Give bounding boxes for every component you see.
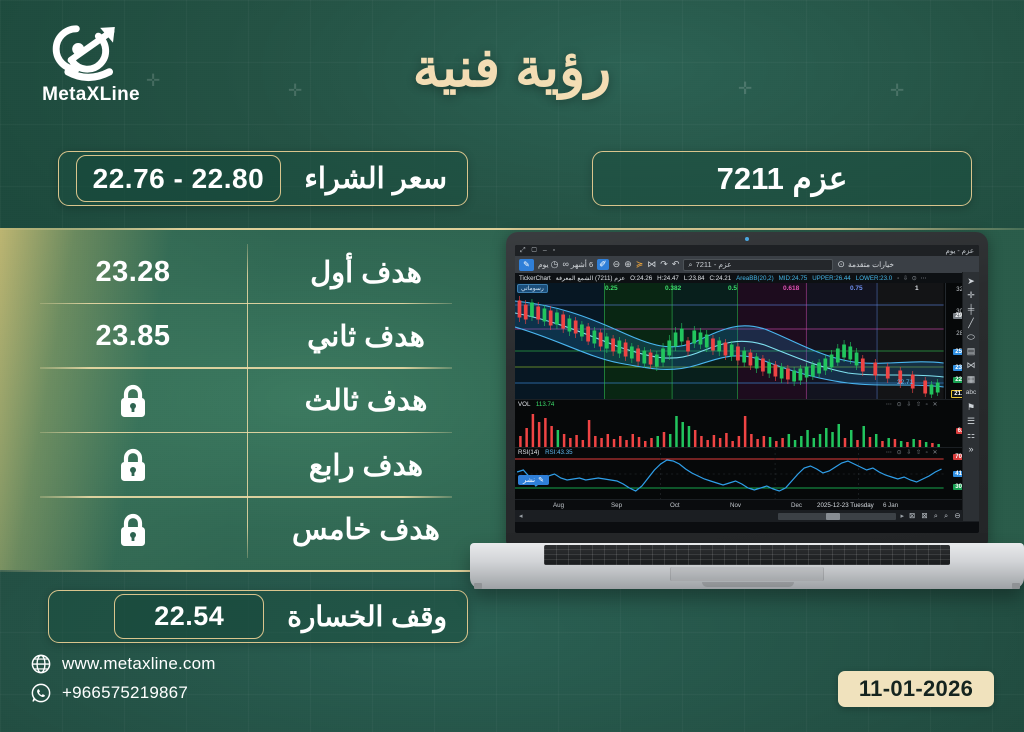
fib-label-1000: 1 (915, 285, 919, 292)
chart-toolbar: ✎ ◷ يوم 6 أشهر ∞ ✐ ⊖ ⊕ ≼ ⋈ ↷ ↶ (515, 256, 979, 273)
range-6m[interactable]: 6 أشهر ∞ (562, 260, 593, 269)
chart-infobar: TickerChart عزم (7211) الشمع المعرفة O:2… (515, 273, 979, 283)
lock-icon (117, 447, 149, 483)
laptop-foot-right (1012, 583, 1020, 589)
search-icon: ⌕ (688, 260, 692, 270)
price-chart-panel[interactable]: رسوماتي 0.25 0.382 0.5 0.618 0.75 1 32.0… (515, 283, 979, 399)
website-row[interactable]: www.metaxline.com (30, 653, 216, 675)
page-title: رؤية فنية (0, 36, 1024, 99)
laptop-mockup: ⤢ ▢ – ▫ عزم - يوم ✎ ◷ يوم 6 أشهر ∞ ✐ ⊖ (470, 232, 1024, 600)
timeframe-day-label: يوم (538, 260, 549, 269)
search-value: عزم - 7211 (696, 260, 732, 269)
laptop-notch (702, 582, 794, 587)
cursor-icon[interactable]: ➤ (967, 276, 975, 286)
target-label: هدف خامس (248, 512, 470, 547)
buy-price-label: سعر الشراء (284, 152, 467, 205)
publish-label: نشر (523, 476, 535, 484)
fib-levels-row: 0.25 0.382 0.5 0.618 0.75 1 (515, 283, 945, 294)
symbol-label: عزم 7211 (697, 161, 868, 197)
fib-label-0250: 0.25 (605, 285, 618, 292)
publish-button[interactable]: ✎ نشر (518, 475, 549, 485)
drawing-tools-rail: ➤ ✛ ╪ ╱ ⬭ ▤ ⋈ ▦ abc ⚑ ☰ ⚏ « (962, 272, 979, 521)
window-titlebar: ⤢ ▢ – ▫ عزم - يوم (515, 245, 979, 256)
infinity-icon: ∞ (562, 260, 568, 269)
time-label-oct: Oct (670, 502, 680, 509)
last-price-label: 22.71 (897, 379, 913, 386)
table-row: هدف ثاني 23.85 (18, 304, 470, 368)
undo-icon[interactable]: ↶ (672, 260, 680, 269)
time-label-aug: Aug (553, 502, 564, 509)
infobar-high: H:24.47 (657, 275, 679, 282)
advanced-options-label: خيارات متقدمة (848, 260, 894, 269)
stop-loss-pill: وقف الخسارة 22.54 (48, 590, 468, 643)
laptop-keyboard (544, 545, 950, 565)
infobar-mid: MID:24.75 (779, 275, 808, 282)
infobar-indicator: AreaBB(20,2) (736, 275, 774, 282)
rsi-header: RSI(14) RSI:43.35 (518, 449, 573, 456)
timeframe-day[interactable]: ◷ يوم (538, 260, 558, 269)
rsi-title: RSI(14) (518, 449, 539, 456)
time-label-sep: Sep (611, 502, 622, 509)
infobar-close: C:24.21 (710, 275, 732, 282)
infobar-open: O:24.26 (630, 275, 652, 282)
settings-icon: ⊙ (837, 260, 845, 269)
advanced-options-button[interactable]: خيارات متقدمة ⊙ (837, 260, 894, 269)
volume-title: VOL (518, 401, 530, 408)
stop-loss-label: وقف الخسارة (267, 591, 467, 642)
laptop-foot-left (474, 583, 482, 589)
infobar-instrument: عزم (7211) الشمع المعرفة (556, 275, 625, 282)
infobar-upper: UPPER:26.44 (812, 275, 851, 282)
pencil-icon[interactable]: ✎ (519, 259, 534, 271)
stop-loss-value-box: 22.54 (114, 594, 264, 639)
whatsapp-icon (30, 682, 52, 704)
line-icon[interactable]: ╱ (968, 318, 973, 328)
draw-icon[interactable]: ✐ (597, 259, 609, 270)
volume-header: VOL 113.74 (518, 401, 554, 408)
window-title: عزم - يوم (946, 247, 975, 255)
rsi-panel-controls[interactable]: ✕ ▫ ⇧ ⇩ ⊙ ⋯ (886, 449, 939, 456)
lock-icon (117, 383, 149, 419)
target-label: هدف أول (248, 255, 470, 290)
stop-loss-value: 22.54 (154, 601, 224, 632)
rsi-value: RSI:43.35 (545, 449, 573, 456)
flag-icon[interactable]: ⚑ (967, 402, 975, 412)
contact-info: www.metaxline.com +966575219867 (30, 653, 216, 711)
infographic-root: ✛ ✛ ✛ ✛ MetaXLine رؤية فنية عزم 7211 (0, 0, 1024, 732)
target-label: هدف ثالث (248, 383, 470, 418)
target-value: 23.28 (18, 256, 248, 289)
fib-label-0382: 0.382 (665, 285, 681, 292)
pencil-icon: ✎ (538, 476, 544, 484)
ellipse-icon[interactable]: ⬭ (967, 332, 975, 342)
target-value-locked (18, 512, 248, 548)
buy-price-value-box: 22.80 - 22.76 (76, 155, 282, 202)
crosshair-date: 2025-12-23 Tuesday (817, 502, 874, 509)
clock-icon: ◷ (551, 260, 559, 269)
target-label: هدف ثاني (248, 319, 470, 354)
plus-circle-icon[interactable]: ⊕ (624, 260, 632, 269)
volume-value: 113.74 (536, 401, 554, 408)
divider-top (0, 228, 1024, 230)
drawings-tag[interactable]: رسوماتي (517, 284, 548, 293)
time-axis: Aug Sep Oct Nov Dec 2025-12-23 Tuesday 6… (515, 499, 979, 510)
chart-bottombar: ◂ ▸ ⊠ ⊠ ⌕ ⌕ ⊖ ⊕ (515, 510, 979, 522)
phone-row[interactable]: +966575219867 (30, 682, 216, 704)
laptop-base (470, 543, 1024, 589)
table-row: هدف أول 23.28 (18, 240, 470, 304)
targets-table: هدف أول 23.28 هدف ثاني 23.85 هدف ثالث هد (18, 240, 470, 562)
range-6m-label: 6 أشهر (571, 260, 593, 269)
scrollbar-thumb[interactable] (826, 513, 840, 520)
table-row: هدف خامس (18, 498, 470, 562)
buy-price-pill: سعر الشراء 22.80 - 22.76 (58, 151, 468, 206)
infobar-low: L:23.84 (684, 275, 705, 282)
text-box-icon[interactable]: ▤ (967, 346, 976, 356)
target-value-locked (18, 383, 248, 419)
crosshair-icon[interactable]: ✛ (967, 290, 975, 300)
scroll-right-icon[interactable]: ▸ (901, 512, 905, 520)
laptop-trackpad (670, 567, 824, 581)
window-controls[interactable]: ⤢ ▢ – ▫ (520, 247, 557, 255)
buy-price-value: 22.80 - 22.76 (93, 163, 265, 195)
fib-tool-icon[interactable]: ⋈ (967, 360, 976, 370)
abc-icon[interactable]: abc (966, 388, 976, 398)
horizontal-scrollbar[interactable] (778, 513, 896, 520)
scroll-left-icon[interactable]: ◂ (519, 512, 523, 520)
settings-sliders-icon[interactable]: ⚏ (967, 430, 975, 440)
search-input[interactable]: عزم - 7211 ⌕ (683, 259, 833, 271)
webcam-icon (745, 237, 749, 241)
phone-text: +966575219867 (62, 683, 188, 703)
laptop-screen: ⤢ ▢ – ▫ عزم - يوم ✎ ◷ يوم 6 أشهر ∞ ✐ ⊖ (515, 245, 979, 533)
lock-icon (117, 512, 149, 548)
infobar-source: TickerChart (519, 275, 551, 282)
target-value: 23.85 (18, 320, 248, 353)
fib-label-0500: 0.5 (728, 285, 737, 292)
infobar-panel-controls[interactable]: ▫ ⇩ ⊙ ⋯ (897, 275, 927, 282)
time-label-dec: Dec (791, 502, 802, 509)
table-row: هدف ثالث (18, 369, 470, 433)
crosshair-alt-icon[interactable]: ╪ (968, 304, 974, 314)
fib-label-0618: 0.618 (783, 285, 799, 292)
website-text: www.metaxline.com (62, 654, 216, 674)
fib-label-0750: 0.75 (850, 285, 863, 292)
infobar-lower: LOWER:23.0 (856, 275, 892, 282)
volume-panel[interactable]: VOL 113.74 ✕ ▫ ⇧ ⇩ ⊙ ⋯ 6.923K (515, 399, 979, 447)
time-label-edge: 6 Jan (883, 502, 898, 509)
indicator-icon[interactable]: ≼ (636, 260, 644, 269)
table-row: هدف رابع (18, 433, 470, 497)
globe-icon (30, 653, 52, 675)
time-label-nov: Nov (730, 502, 741, 509)
collapse-icon[interactable]: « (969, 444, 974, 454)
compare-icon[interactable]: ⋈ (647, 260, 656, 269)
redo-icon[interactable]: ↷ (660, 260, 668, 269)
symbol-pill: عزم 7211 (592, 151, 972, 206)
rsi-panel[interactable]: RSI(14) RSI:43.35 ✕ ▫ ⇧ ⇩ ⊙ ⋯ 70.0000 41… (515, 447, 979, 499)
target-label: هدف رابع (248, 448, 470, 483)
volume-panel-controls[interactable]: ✕ ▫ ⇧ ⇩ ⊙ ⋯ (886, 401, 939, 408)
list-icon[interactable]: ☰ (967, 416, 975, 426)
laptop-lid: ⤢ ▢ – ▫ عزم - يوم ✎ ◷ يوم 6 أشهر ∞ ✐ ⊖ (506, 232, 988, 545)
date-badge: 11-01-2026 (838, 671, 994, 707)
target-value-locked (18, 447, 248, 483)
minus-circle-icon[interactable]: ⊖ (613, 260, 621, 269)
grid-icon[interactable]: ▦ (967, 374, 976, 384)
